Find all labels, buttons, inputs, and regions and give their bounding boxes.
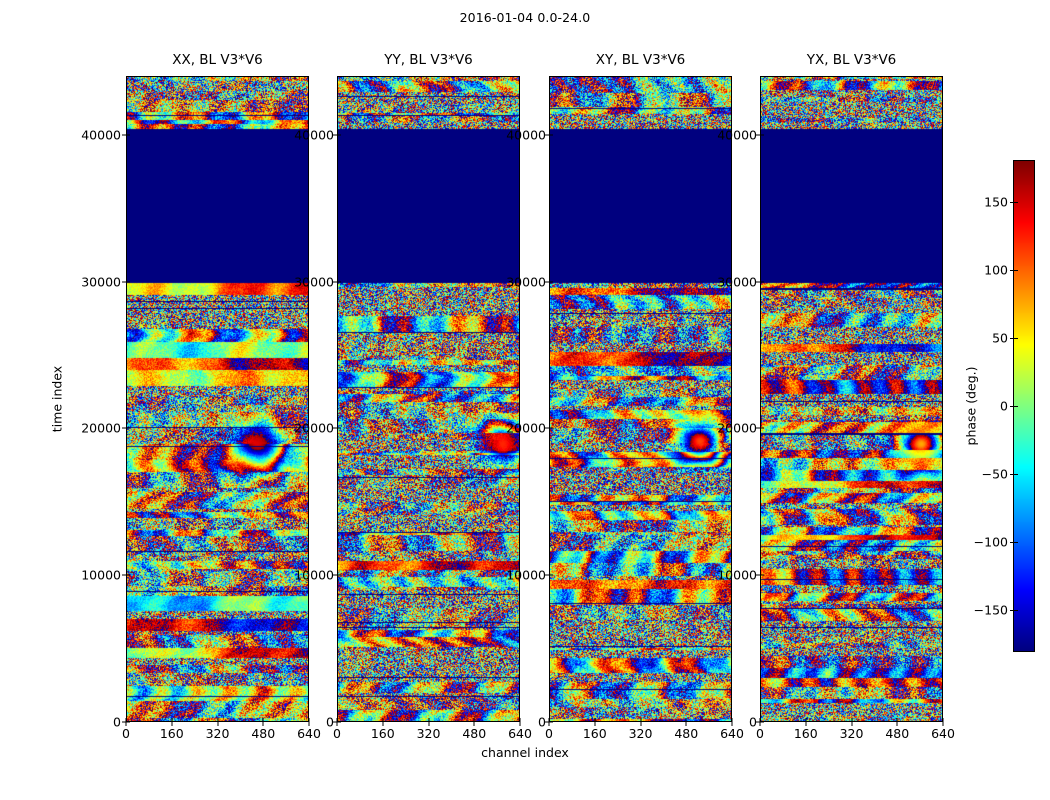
y-tick-mark-inner [337,575,341,576]
y-tick-mark-inner [760,134,764,135]
x-tick-label: 320 [206,726,230,741]
y-tick-label: 20000 [506,421,546,436]
colorbar-tick-label: −150 [974,603,1008,618]
colorbar-tick-mark-inner [1014,202,1018,203]
colorbar-tick-label: −100 [974,535,1008,550]
y-tick-mark-inner [126,722,130,723]
x-tick-label: 480 [674,726,698,741]
x-tick-mark-inner [805,718,806,722]
x-tick-mark-inner [428,718,429,722]
y-tick-label: 40000 [81,127,121,142]
y-tick-mark-inner [337,134,341,135]
y-tick-label: 40000 [717,127,757,142]
colorbar-label: phase (deg.) [964,367,979,446]
colorbar-tick-label: 100 [984,262,1008,277]
x-tick-label: 480 [251,726,275,741]
y-tick-label: 10000 [81,568,121,583]
x-tick-mark-inner [594,718,595,722]
colorbar-tick-mark-inner [1014,270,1018,271]
colorbar-tick-mark-inner [1014,338,1018,339]
y-tick-label: 20000 [81,421,121,436]
panel-plot-area-xy [549,76,732,722]
x-tick-label: 0 [756,726,764,741]
panel-title-yx: YX, BL V3*V6 [760,52,943,68]
figure-canvas: 2016-01-04 0.0-24.0 XX, BL V3*V601000020… [0,0,1050,800]
x-axis-label: channel index [0,745,1050,760]
panel-title-xx: XX, BL V3*V6 [126,52,309,68]
x-tick-label: 640 [720,726,744,741]
y-tick-mark-inner [126,281,130,282]
x-tick-label: 0 [545,726,553,741]
y-tick-label: 20000 [717,421,757,436]
y-tick-label: 10000 [506,568,546,583]
x-tick-label: 640 [297,726,321,741]
colorbar-tick-mark-inner [1014,542,1018,543]
y-tick-mark-inner [337,722,341,723]
x-tick-label: 480 [462,726,486,741]
y-tick-mark-inner [760,575,764,576]
y-tick-mark-inner [549,575,553,576]
colorbar-tick-label: 0 [1000,399,1008,414]
y-tick-label: 30000 [506,274,546,289]
x-tick-mark-inner [897,718,898,722]
y-tick-mark-inner [126,575,130,576]
x-tick-mark-inner [549,718,550,722]
x-tick-label: 160 [160,726,184,741]
x-tick-mark-inner [640,718,641,722]
x-tick-label: 0 [122,726,130,741]
colorbar-tick-mark-inner [1014,474,1018,475]
y-tick-label: 0 [113,715,121,730]
colorbar-tick-label: 50 [992,330,1008,345]
y-tick-mark-inner [760,281,764,282]
panel-plot-area-xx [126,76,309,722]
panel-title-yy: YY, BL V3*V6 [337,52,520,68]
x-tick-label: 160 [583,726,607,741]
panel-yy[interactable]: YY, BL V3*V60100002000030000400000160320… [337,76,520,722]
x-tick-mark-inner [943,718,944,722]
y-tick-label: 10000 [294,568,334,583]
panel-heatmap-xx [127,77,309,722]
x-tick-mark-inner [382,718,383,722]
x-tick-label: 0 [333,726,341,741]
x-tick-label: 640 [931,726,955,741]
y-tick-mark-inner [549,428,553,429]
y-tick-mark-inner [337,281,341,282]
panel-plot-area-yx [760,76,943,722]
y-tick-label: 30000 [294,274,334,289]
x-tick-mark-inner [171,718,172,722]
x-tick-mark-inner [474,718,475,722]
x-tick-label: 480 [885,726,909,741]
x-tick-mark-inner [217,718,218,722]
panel-yx[interactable]: YX, BL V3*V60100002000030000400000160320… [760,76,943,722]
x-tick-label: 640 [508,726,532,741]
y-tick-label: 20000 [294,421,334,436]
y-tick-label: 30000 [81,274,121,289]
panel-heatmap-yy [338,77,520,722]
x-tick-mark-inner [686,718,687,722]
y-tick-mark-inner [549,281,553,282]
colorbar[interactable]: −150−100−50050100150 [1013,160,1035,652]
x-tick-mark-inner [337,718,338,722]
figure-suptitle: 2016-01-04 0.0-24.0 [0,10,1050,25]
colorbar-tick-mark-inner [1014,406,1018,407]
x-tick-label: 320 [417,726,441,741]
y-tick-mark-inner [337,428,341,429]
x-tick-mark-inner [126,718,127,722]
x-tick-mark-inner [732,718,733,722]
y-tick-mark-inner [549,722,553,723]
y-tick-label: 40000 [506,127,546,142]
colorbar-tick-label: −50 [982,467,1008,482]
panel-xy[interactable]: XY, BL V3*V60100002000030000400000160320… [549,76,732,722]
y-tick-label: 40000 [294,127,334,142]
panel-title-xy: XY, BL V3*V6 [549,52,732,68]
y-tick-mark-inner [760,428,764,429]
y-tick-mark-inner [126,428,130,429]
x-tick-mark-inner [851,718,852,722]
panel-heatmap-xy [550,77,732,722]
x-tick-mark-inner [760,718,761,722]
panel-xx[interactable]: XX, BL V3*V60100002000030000400000160320… [126,76,309,722]
y-tick-label: 30000 [717,274,757,289]
x-tick-mark-inner [520,718,521,722]
x-tick-label: 320 [629,726,653,741]
y-tick-mark-inner [760,722,764,723]
x-tick-label: 320 [840,726,864,741]
panel-heatmap-yx [761,77,943,722]
colorbar-tick-label: 150 [984,194,1008,209]
y-tick-label: 10000 [717,568,757,583]
y-axis-label: time index [50,366,65,432]
x-tick-label: 160 [371,726,395,741]
panel-plot-area-yy [337,76,520,722]
x-tick-label: 160 [794,726,818,741]
y-tick-mark-inner [126,134,130,135]
colorbar-tick-mark-inner [1014,610,1018,611]
y-tick-mark-inner [549,134,553,135]
x-tick-mark-inner [309,718,310,722]
x-tick-mark-inner [263,718,264,722]
